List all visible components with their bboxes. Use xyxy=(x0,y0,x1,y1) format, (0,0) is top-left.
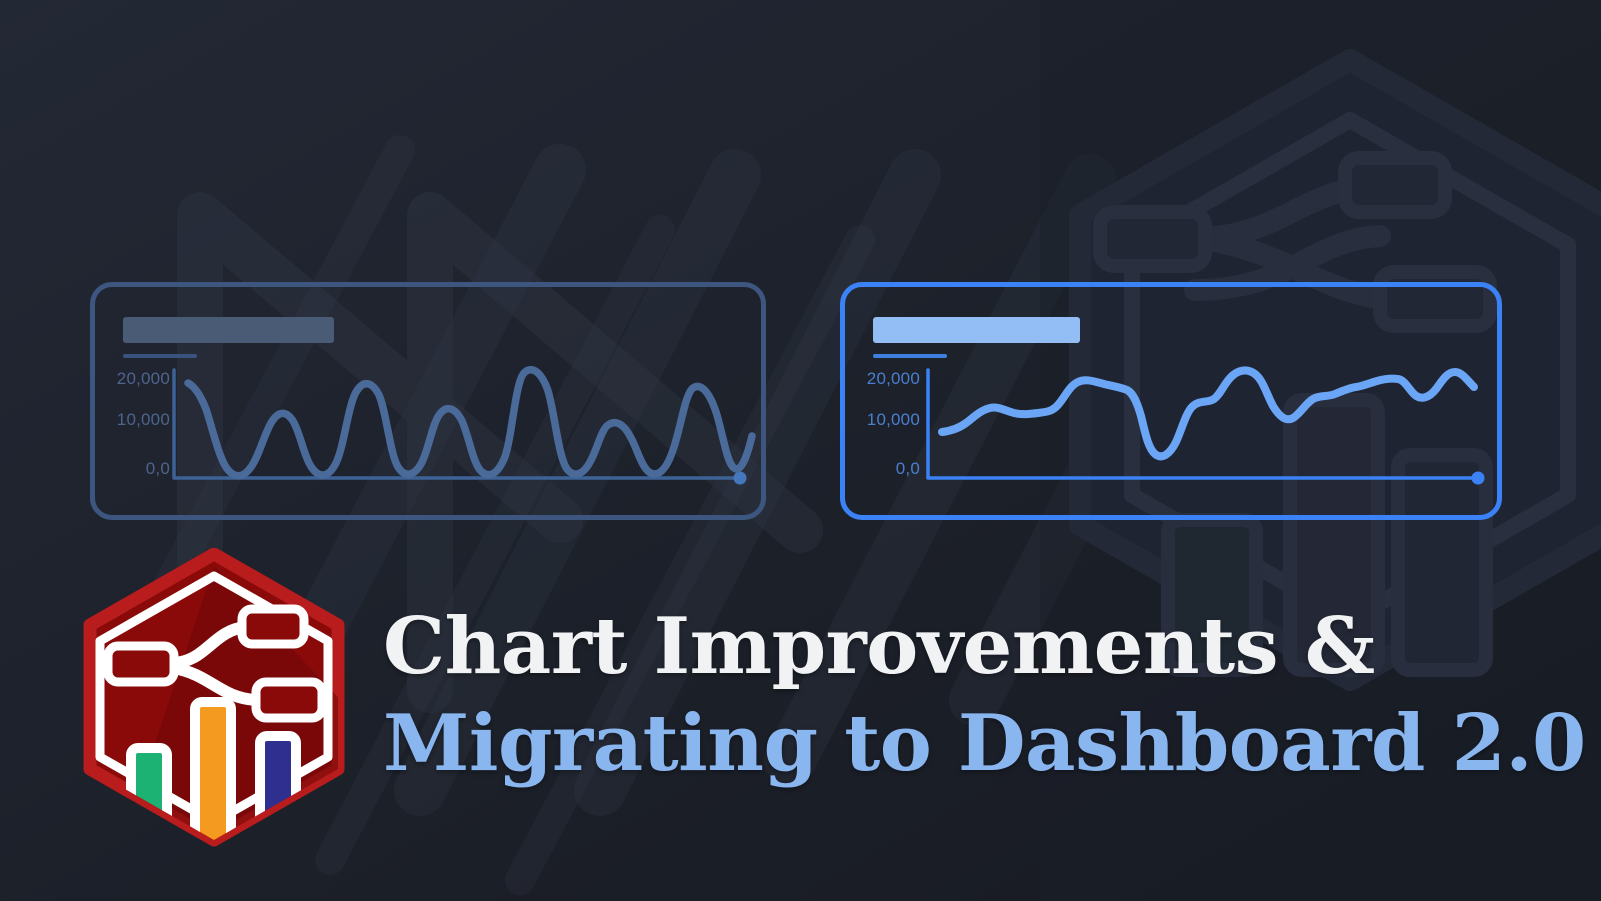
series-path-legacy xyxy=(188,370,752,476)
flow-node-bottom-right xyxy=(256,682,322,718)
bar-orange xyxy=(195,702,231,848)
bar-blue xyxy=(260,736,296,848)
dashboard-2-chart-card: 20,000 10,000 0,0 xyxy=(840,282,1502,520)
page-title-line-1: Chart Improvements & xyxy=(383,608,1375,686)
flow-node-top-right xyxy=(242,609,304,644)
series-path-dashboard2 xyxy=(942,370,1474,456)
page-title-line-2: Migrating to Dashboard 2.0 xyxy=(383,705,1586,783)
poster-canvas: 20,000 10,000 0,0 20,000 10,000 0,0 xyxy=(0,0,1601,901)
legacy-line-chart xyxy=(90,282,766,520)
legacy-dashboard-chart-card: 20,000 10,000 0,0 xyxy=(90,282,766,520)
brand-logo xyxy=(80,548,348,848)
dashboard2-line-chart xyxy=(840,282,1502,520)
flow-node-left xyxy=(108,646,174,682)
